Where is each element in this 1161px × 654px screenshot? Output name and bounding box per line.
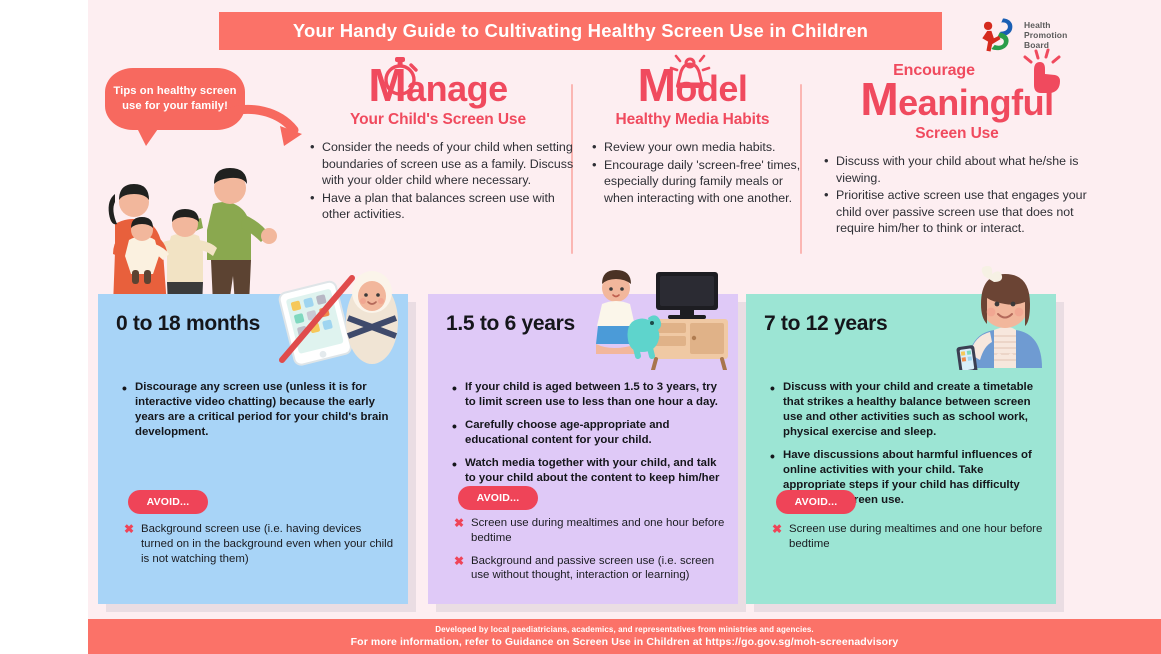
avoid-badge: AVOID... — [128, 490, 208, 514]
toddler-with-toy-and-television-illustration — [594, 260, 734, 370]
logo-line-2: Promotion — [1024, 30, 1067, 40]
avoid-points: ✖Background screen use (i.e. having devi… — [124, 522, 396, 574]
age-card-point: Discourage any screen use (unless it is … — [122, 380, 392, 440]
x-mark-icon: ✖ — [772, 522, 782, 538]
pillar-point: Review your own media habits. — [594, 139, 805, 156]
avoid-points: ✖Screen use during mealtimes and one hou… — [454, 516, 726, 591]
avoid-label: AVOID... — [795, 496, 838, 508]
avoid-badge: AVOID... — [776, 490, 856, 514]
age-card-point: Discuss with your child and create a tim… — [770, 380, 1040, 440]
pillar-model-points: Review your own media habits. Encourage … — [580, 139, 805, 206]
avoid-points: ✖Screen use during mealtimes and one hou… — [772, 522, 1044, 560]
x-mark-icon: ✖ — [454, 516, 464, 532]
x-mark-icon: ✖ — [454, 554, 464, 570]
footer-credit-line: Developed by local paediatricians, acade… — [435, 625, 814, 634]
age-card-point: If your child is aged between 1.5 to 3 y… — [452, 380, 722, 410]
age-card-point: Carefully choose age-appropriate and edu… — [452, 418, 722, 448]
swaddled-baby-and-crossed-tablet-illustration — [264, 260, 404, 370]
avoid-point-text: Background and passive screen use (i.e. … — [471, 555, 714, 582]
pillar-point: Consider the needs of your child when se… — [312, 139, 578, 189]
poster-footer: Developed by local paediatricians, acade… — [88, 619, 1161, 654]
age-card-1-5-to-6-years: 1.5 to 6 years — [428, 294, 738, 604]
speech-bubble-tail-icon — [136, 126, 160, 146]
pillar-point: Have a plan that balances screen use wit… — [312, 190, 578, 223]
x-mark-icon: ✖ — [124, 522, 134, 538]
tips-bubble-text: Tips on healthy screen use for your fami… — [105, 84, 245, 115]
pillar-manage-word: Manage — [298, 62, 578, 108]
three-m-pillars: Manage Your Child's Screen Use Consider … — [288, 62, 1138, 262]
avoid-point-text: Background screen use (i.e. having devic… — [141, 523, 393, 565]
pillar-point: Discuss with your child about what he/sh… — [826, 153, 1102, 186]
pillar-point: Prioritise active screen use that engage… — [826, 187, 1102, 237]
pillar-model: Model Healthy Media Habits Review your o… — [580, 62, 805, 207]
pillar-manage-subtitle: Your Child's Screen Use — [298, 111, 578, 129]
avoid-point: ✖Screen use during mealtimes and one hou… — [772, 522, 1044, 552]
infographic-poster: Your Handy Guide to Cultivating Healthy … — [88, 0, 1161, 654]
pillar-meaningful-heading: Encourage Meaningful Screen Use — [812, 62, 1102, 143]
page-title: Your Handy Guide to Cultivating Healthy … — [293, 20, 868, 42]
pillar-manage: Manage Your Child's Screen Use Consider … — [298, 62, 578, 224]
pillar-manage-points: Consider the needs of your child when se… — [298, 139, 578, 223]
avoid-label: AVOID... — [147, 496, 190, 508]
pillar-model-subtitle: Healthy Media Habits — [580, 111, 805, 129]
pillar-point: Encourage daily 'screen-free' times, esp… — [594, 157, 805, 207]
logo-wordmark: Health Promotion Board — [1024, 20, 1067, 50]
age-card-7-to-12-years: 7 to 12 years Discuss w — [746, 294, 1056, 604]
avoid-point-text: Screen use during mealtimes and one hour… — [789, 523, 1042, 550]
age-card-points: If your child is aged between 1.5 to 3 y… — [446, 380, 722, 501]
pillar-meaningful-subtitle: Screen Use — [812, 125, 1102, 143]
avoid-point: ✖Background and passive screen use (i.e.… — [454, 554, 726, 584]
girl-holding-smartphone-illustration — [912, 260, 1052, 370]
pillar-meaningful: Encourage Meaningful Screen Use Discuss … — [812, 62, 1102, 238]
pillar-meaningful-points: Discuss with your child about what he/sh… — [812, 153, 1102, 237]
logo-line-1: Health — [1024, 20, 1067, 30]
age-card-0-to-18-months: 0 to 18 months — [98, 294, 408, 604]
avoid-point: ✖Screen use during mealtimes and one hou… — [454, 516, 726, 546]
alarm-person-icon — [668, 50, 712, 94]
tips-speech-bubble: Tips on healthy screen use for your fami… — [105, 68, 245, 130]
pillar-manage-heading: Manage Your Child's Screen Use — [298, 62, 578, 129]
poster-title-bar: Your Handy Guide to Cultivating Healthy … — [219, 12, 942, 50]
avoid-point-text: Screen use during mealtimes and one hour… — [471, 517, 724, 544]
age-card-points: Discourage any screen use (unless it is … — [116, 380, 392, 440]
pillar-initial: M — [860, 73, 898, 125]
pointing-hand-icon — [1018, 48, 1066, 96]
hpb-logo-mark — [978, 16, 1018, 54]
footer-reference-line: For more information, refer to Guidance … — [351, 636, 899, 648]
stopwatch-icon — [378, 54, 422, 98]
avoid-label: AVOID... — [477, 492, 520, 504]
avoid-point: ✖Background screen use (i.e. having devi… — [124, 522, 396, 566]
avoid-badge: AVOID... — [458, 486, 538, 510]
